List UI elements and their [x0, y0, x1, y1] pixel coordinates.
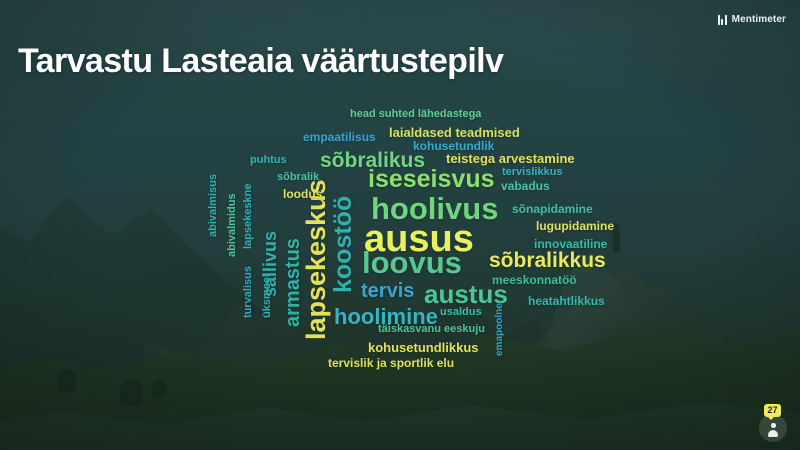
wordcloud-word: kohusetundlik [413, 140, 494, 152]
wordcloud-word: vabadus [501, 180, 550, 192]
wordcloud-word: sõbralikkus [489, 250, 606, 271]
wordcloud-word: hoolivus [371, 193, 498, 224]
wordcloud-word: loovus [362, 247, 462, 278]
wordcloud-word: innovaatiline [534, 238, 607, 250]
wordcloud-word: empaatilisus [303, 131, 376, 143]
wordcloud-word: tervis [361, 281, 414, 301]
wordcloud-word: abivalmisus [208, 174, 219, 237]
person-icon [768, 423, 778, 437]
wordcloud-word: sõbralikus [320, 150, 425, 171]
wordcloud-word: tervislik ja sportlik elu [328, 357, 454, 369]
presentation-slide: Mentimeter Tarvastu Lasteaia väärtustepi… [0, 0, 800, 450]
wordcloud-word: puhtus [250, 155, 287, 166]
wordcloud-word: armastus [283, 238, 303, 327]
wordcloud-word: head suhted lähedastega [350, 109, 481, 120]
wordcloud-word: täiskasvanu eeskuju [378, 324, 485, 335]
participant-count-badge: 27 [764, 404, 781, 417]
wordcloud-word: lapsekeskus [303, 179, 330, 340]
wordcloud-word: emapoolne [495, 303, 505, 356]
wordcloud-word: loodus [283, 188, 322, 200]
participant-counter[interactable]: 27 [756, 404, 790, 442]
wordcloud-word: lugupidamine [536, 220, 614, 232]
wordcloud-word: sõbralik [277, 172, 319, 183]
wordcloud-word: tervislikkus [502, 167, 563, 178]
wordcloud-word: teistega arvestamine [446, 152, 575, 165]
wordcloud-word: turvalisus [243, 266, 254, 318]
wordcloud-word: üksmeel [262, 274, 273, 318]
wordcloud-word: abivalmidus [227, 193, 238, 257]
wordcloud-word: heatahtlikkus [528, 295, 605, 307]
wordcloud-word: koostöö [331, 196, 356, 293]
word-cloud: ausushoolivusloovusiseseisvusaustuslapse… [0, 0, 800, 450]
wordcloud-word: usaldus [440, 307, 482, 318]
wordcloud-word: kohusetundlikkus [368, 341, 479, 354]
wordcloud-word: sõnapidamine [512, 203, 593, 215]
wordcloud-word: laialdased teadmised [389, 126, 520, 139]
wordcloud-word: meeskonnatöö [492, 274, 577, 286]
wordcloud-word: lapsekeskne [243, 184, 254, 249]
